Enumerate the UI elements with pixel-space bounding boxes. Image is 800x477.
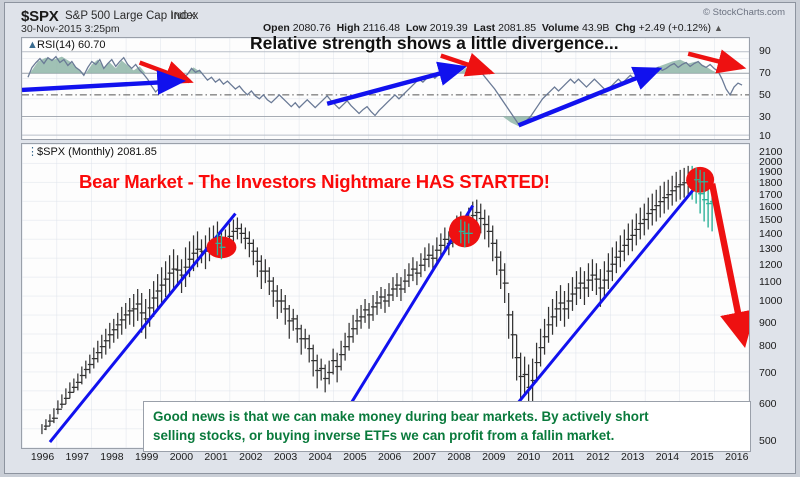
stockcharts-watermark: © StockCharts.com [703,7,785,18]
x-tick-2005: 2005 [343,451,366,463]
price-tick-900: 900 [759,317,777,329]
x-tick-2003: 2003 [274,451,297,463]
price-tick-1000: 1000 [759,295,782,307]
rsi-tick-90: 90 [759,45,771,57]
x-tick-2013: 2013 [621,451,644,463]
chart-header: $SPX S&P 500 Large Cap Index INDX 30-Nov… [5,3,795,37]
x-tick-2004: 2004 [309,451,332,463]
quote-datetime: 30-Nov-2015 3:25pm [21,23,120,35]
x-tick-2010: 2010 [517,451,540,463]
price-tick-700: 700 [759,367,777,379]
price-tick-1500: 1500 [759,214,782,226]
x-tick-2008: 2008 [447,451,470,463]
x-tick-1996: 1996 [31,451,54,463]
chg-value: +2.49 (+0.12%) [639,22,711,34]
x-tick-1999: 1999 [135,451,158,463]
stockcharts-screenshot: $SPX S&P 500 Large Cap Index INDX 30-Nov… [0,0,800,477]
callout-line-1: Good news is that we can make money duri… [153,407,741,426]
bear-market-headline: Bear Market - The Investors Nightmare HA… [79,171,550,193]
rsi-tick-70: 70 [759,67,771,79]
price-panel-title: ⋮$SPX (Monthly) 2081.85 [25,145,159,158]
x-tick-1997: 1997 [66,451,89,463]
price-tick-1600: 1600 [759,201,782,213]
x-tick-2011: 2011 [552,451,575,463]
x-tick-2014: 2014 [656,451,679,463]
x-tick-2001: 2001 [204,451,227,463]
rsi-tick-30: 30 [759,111,771,123]
price-tick-1100: 1100 [759,276,782,288]
x-tick-2012: 2012 [586,451,609,463]
symbol-exchange: INDX [171,11,196,22]
x-tick-2007: 2007 [413,451,436,463]
rsi-tick-10: 10 [759,130,771,142]
right-axis: 9070503010 21002000190018001700160015001… [751,37,800,449]
x-tick-2016: 2016 [725,451,748,463]
axis-tick-band [751,37,757,449]
chart-frame: $SPX S&P 500 Large Cap Index INDX 30-Nov… [4,2,796,474]
price-tick-1400: 1400 [759,228,782,240]
price-title-text: $SPX (Monthly) 2081.85 [37,146,157,158]
x-tick-2002: 2002 [239,451,262,463]
up-triangle-icon: ▲ [714,23,723,33]
rsi-panel-title: ▲RSI(14) 60.70 [25,39,107,51]
rsi-annotation-text: Relative strength shows a little diverge… [250,33,619,54]
price-tick-600: 600 [759,398,777,410]
price-tick-1700: 1700 [759,189,782,201]
x-tick-2015: 2015 [690,451,713,463]
price-bars-icon: ⋮ [27,145,37,158]
price-tick-800: 800 [759,340,777,352]
x-tick-2009: 2009 [482,451,505,463]
price-tick-500: 500 [759,435,777,447]
x-tick-2006: 2006 [378,451,401,463]
good-news-callout-box: Good news is that we can make money duri… [143,401,751,452]
x-axis-years: 1996199719981999200020012002200320042005… [21,451,750,473]
x-tick-2000: 2000 [170,451,193,463]
rsi-title-text: RSI(14) 60.70 [37,39,105,51]
rsi-tick-50: 50 [759,89,771,101]
callout-line-2: selling stocks, or buying inverse ETFs w… [153,426,741,445]
price-tick-1200: 1200 [759,259,782,271]
rsi-indicator-icon: ▲ [27,39,37,51]
price-tick-1300: 1300 [759,243,782,255]
price-tick-1800: 1800 [759,177,782,189]
x-tick-1998: 1998 [100,451,123,463]
